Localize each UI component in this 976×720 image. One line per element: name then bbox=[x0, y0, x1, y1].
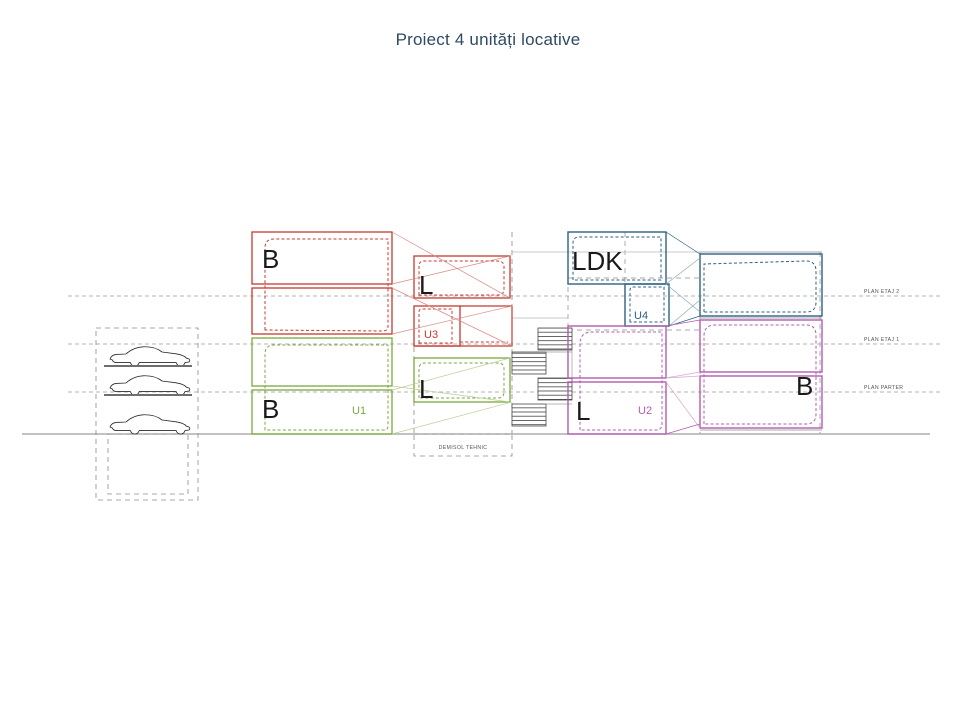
car-stack bbox=[96, 328, 198, 500]
stair-block bbox=[538, 378, 572, 400]
unit-U4-right-band-outline bbox=[700, 254, 822, 316]
car-stack-inner-boundary bbox=[108, 434, 188, 494]
car-silhouette bbox=[104, 347, 192, 366]
unit-U3-room-label-B: B bbox=[262, 244, 279, 274]
unit-U3[interactable]: B L U3 bbox=[252, 232, 512, 346]
car-silhouette bbox=[110, 415, 190, 434]
unit-U2-room-label-L: L bbox=[576, 396, 590, 426]
unit-U1-connectors bbox=[392, 358, 512, 434]
stair-block bbox=[512, 352, 546, 374]
unit-U3-room-B-dashed-inner bbox=[265, 239, 388, 331]
stair-block bbox=[538, 328, 572, 350]
unit-U2-room-upper-outline bbox=[568, 326, 666, 378]
unit-U3-room-label-L: L bbox=[419, 270, 433, 300]
basement-label: DEMISOL TEHNIC bbox=[439, 445, 488, 451]
level-label-parter: PLAN PARTER bbox=[864, 385, 903, 391]
unit-U4-tag: U4 bbox=[634, 310, 648, 322]
level-labels: PLAN ETAJ 2 PLAN ETAJ 1 PLAN PARTER bbox=[864, 289, 903, 391]
unit-U2[interactable]: L B U2 bbox=[568, 320, 822, 434]
unit-U4-right-band-dashed bbox=[704, 261, 816, 312]
unit-U4-connectors bbox=[666, 232, 700, 326]
unit-U2-room-B-upper-outline bbox=[700, 320, 822, 372]
unit-U3-tag: U3 bbox=[424, 329, 438, 341]
unit-U2-room-label-B: B bbox=[796, 371, 813, 401]
unit-U1-dashed-inner bbox=[265, 345, 388, 430]
level-label-etaj2: PLAN ETAJ 2 bbox=[864, 289, 899, 295]
unit-U1-room-label-L: L bbox=[419, 374, 433, 404]
unit-U1-tag: U1 bbox=[352, 405, 366, 417]
unit-U3-room-B-lower-outline bbox=[252, 288, 392, 334]
unit-U1[interactable]: B L U1 bbox=[252, 338, 512, 434]
stair-block bbox=[512, 404, 546, 426]
level-label-etaj1: PLAN ETAJ 1 bbox=[864, 337, 899, 343]
unit-U1-room-label-B: B bbox=[262, 394, 279, 424]
unit-U2-tag: U2 bbox=[638, 405, 652, 417]
drawing-canvas: Proiect 4 unități locative PLAN ETAJ 2 P… bbox=[0, 0, 976, 720]
unit-U2-connectors bbox=[666, 320, 700, 434]
staircases bbox=[512, 328, 572, 426]
unit-U4[interactable]: LDK U4 bbox=[568, 232, 822, 326]
architectural-section-drawing: PLAN ETAJ 2 PLAN ETAJ 1 PLAN PARTER bbox=[0, 0, 976, 720]
unit-U4-room-label-LDK: LDK bbox=[572, 246, 623, 276]
